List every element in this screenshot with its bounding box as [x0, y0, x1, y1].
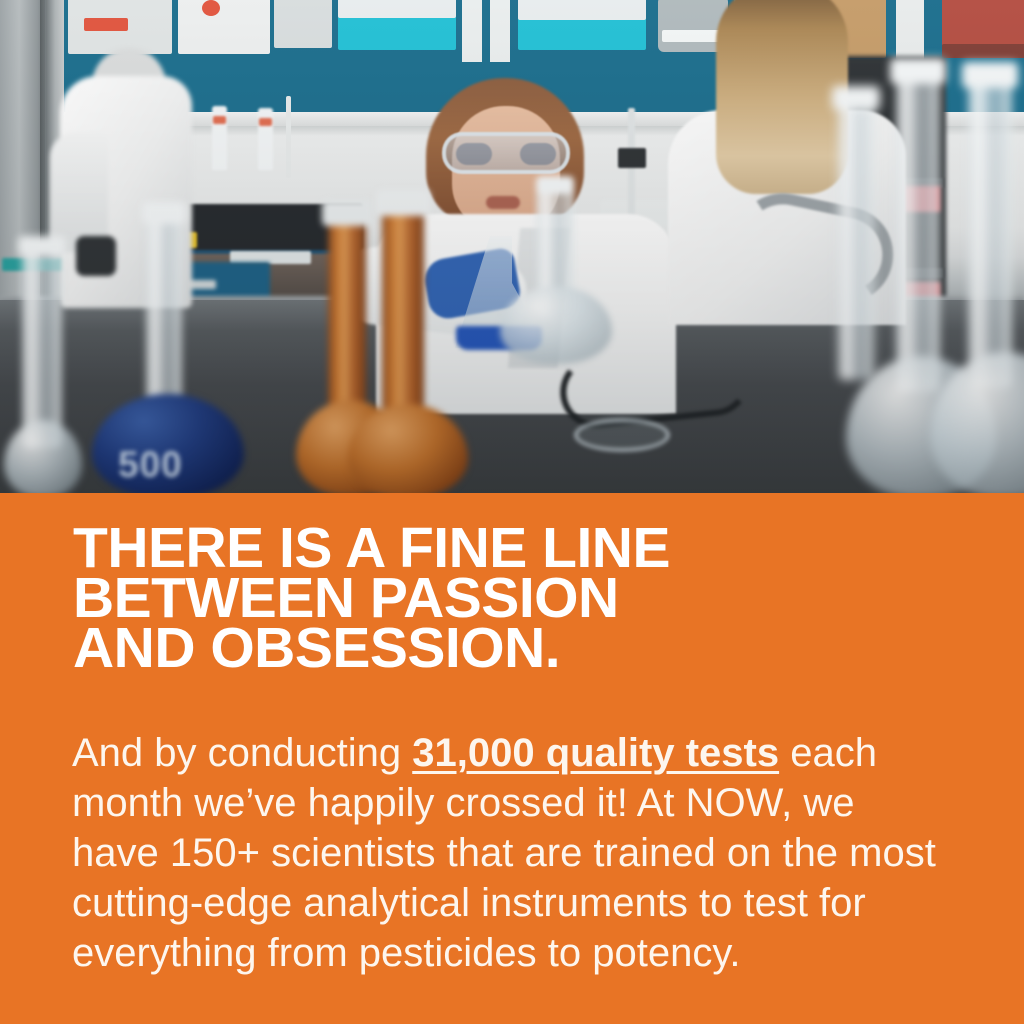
body-paragraph: And by conducting 31,000 quality tests e… — [72, 728, 952, 978]
petri-dish — [574, 418, 670, 452]
orange-text-panel: THERE IS A FINE LINE BETWEEN PASSION AND… — [0, 493, 1024, 1024]
scientist-hair — [716, 0, 848, 194]
safety-goggles — [442, 132, 570, 174]
scientist-background-left — [46, 36, 206, 308]
scientist-mouth — [486, 196, 520, 209]
body-text-before: And by conducting — [72, 731, 412, 775]
poster: 500 THERE IS A FINE — [0, 0, 1024, 1024]
flask-volume-label: 500 — [118, 444, 183, 486]
reagent-tube — [212, 106, 227, 170]
lab-photo: 500 — [0, 0, 1024, 493]
probe-rod — [286, 96, 291, 178]
highlight-quality-tests: 31,000 quality tests — [412, 731, 779, 775]
page-title: THERE IS A FINE LINE BETWEEN PASSION AND… — [73, 523, 973, 673]
reagent-tube — [258, 108, 273, 170]
